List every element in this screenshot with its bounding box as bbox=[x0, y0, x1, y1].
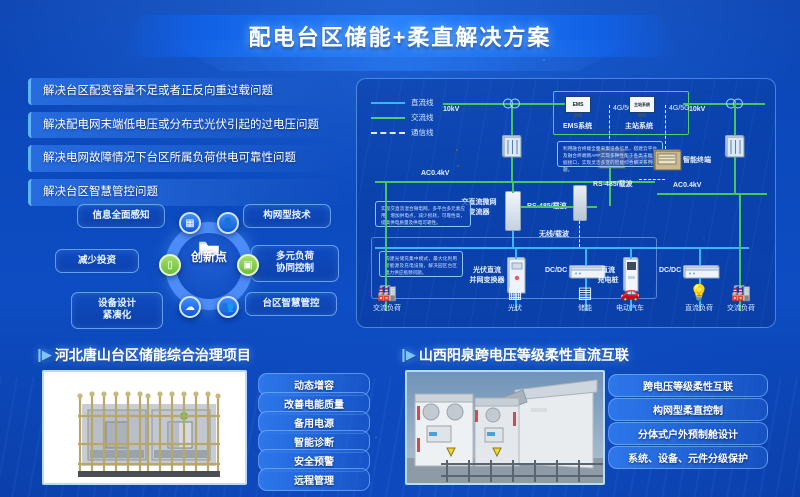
label-dcdc-right: DC/DC bbox=[659, 267, 681, 274]
label-ems: EMS系统 bbox=[563, 121, 592, 131]
electric-car-icon: 🚗 bbox=[608, 285, 652, 303]
cloud-upload-icon[interactable]: ☁ bbox=[179, 296, 201, 318]
bottom-icon-label: 储能 bbox=[578, 305, 592, 312]
ems-monitor[interactable]: EMS bbox=[565, 96, 591, 118]
label-pv-converter: 光伏直流 并网变换器 bbox=[467, 265, 507, 285]
ac-drop-right bbox=[734, 103, 736, 137]
list-item: 解决配电网末端低电压或分布式光伏引起的过电压问题 bbox=[28, 112, 338, 139]
feature-pill: 系统、设备、元件分级保护 bbox=[608, 446, 768, 469]
label-dcdc-left: DC/DC bbox=[545, 267, 567, 274]
bottom-icon-label: 交流负荷 bbox=[373, 305, 401, 312]
innovation-tag-reduce-investment: 减少投资 bbox=[55, 249, 139, 273]
fenced-cabinets-illustration bbox=[44, 372, 247, 485]
project-2-photo bbox=[405, 370, 605, 485]
bottom-icon-pv: ▦ 光伏 bbox=[493, 285, 537, 313]
photo-content bbox=[407, 372, 603, 483]
project-2-title-row: ❙▶ 山西阳泉跨电压等级柔性直流互联 bbox=[398, 345, 629, 365]
comm-link-rs485-right bbox=[639, 179, 665, 180]
solar-panel-icon: ▦ bbox=[493, 285, 537, 303]
bottom-icon-label: 直流负荷 bbox=[685, 305, 713, 312]
comm-line-swatch bbox=[371, 132, 405, 134]
page-title: 配电台区储能+柔直解决方案 bbox=[249, 20, 552, 52]
dc-link-dcdc-left bbox=[585, 247, 587, 265]
dc-link-charger bbox=[630, 247, 632, 259]
innovation-core: 创新点 ▦ 👤 ▣ 👥 ☁ ▯ bbox=[157, 214, 261, 318]
smart-terminal-right bbox=[653, 149, 681, 170]
label-dc-charger: 直流 充电桩 bbox=[595, 265, 621, 285]
dcdc-glyph bbox=[684, 266, 720, 279]
monitor-stand bbox=[638, 113, 646, 117]
label-4g5g-right: 4G/5G bbox=[669, 105, 690, 112]
feature-pill: 远程管理 bbox=[258, 468, 370, 491]
label-rs485-right: RS-485/载波 bbox=[593, 179, 633, 189]
bottom-icon-label: 电动汽车 bbox=[616, 305, 644, 312]
innovation-tag-compact-design: 设备设计 紧凑化 bbox=[71, 292, 163, 329]
bottom-icon-ac-load-right: 🏭 交流负荷 bbox=[719, 285, 763, 313]
factory-icon: 🏭 bbox=[365, 285, 409, 303]
light-bulb-icon: 💡 bbox=[677, 285, 721, 303]
transformer-glyph bbox=[503, 136, 522, 158]
transformer-glyph bbox=[726, 136, 745, 158]
master-system-monitor[interactable]: 主站系统 bbox=[629, 96, 655, 118]
factory-icon: 🏭 bbox=[719, 285, 763, 303]
list-item: 解决电网故障情况下台区所属负荷供电可靠性问题 bbox=[28, 145, 338, 172]
legend-label: 通信线 bbox=[411, 127, 434, 138]
innovation-tag-info-sensing: 信息全面感知 bbox=[77, 204, 165, 228]
project-2-title: 山西阳泉跨电压等级柔性直流互联 bbox=[419, 345, 629, 365]
dcdc-converter-load bbox=[683, 265, 719, 278]
feature-pill: 分体式户外预制舱设计 bbox=[608, 422, 768, 445]
master-screen-label: 主站系统 bbox=[629, 96, 655, 113]
bottom-icon-ac-load-left: 🏭 交流负荷 bbox=[365, 285, 409, 313]
transformer-left bbox=[502, 135, 521, 157]
legend-item-comm: 通信线 bbox=[371, 127, 434, 138]
system-architecture-diagram: 直流线 交流线 通信线 10kV AC0.4kV 交直流微网 变流器 bbox=[356, 78, 776, 328]
bottom-icon-label: 交流负荷 bbox=[727, 305, 755, 312]
ac-drop-left-2 bbox=[511, 157, 513, 181]
ems-screen-label: EMS bbox=[565, 96, 591, 113]
label-master-system: 主站系统 bbox=[625, 121, 653, 131]
label-10kv-right: 10kV bbox=[689, 106, 705, 113]
photo-content bbox=[44, 372, 245, 483]
bottom-icon-ev: 🚗 电动汽车 bbox=[608, 285, 652, 313]
label-terminal-right: 智能终端 bbox=[683, 155, 711, 165]
dc-line-swatch bbox=[371, 102, 405, 104]
dc-link-dcdc-right bbox=[699, 247, 701, 265]
callout-pv-storage: 构建光储充集中模式，最大化利用新能源及充电设施，解决园区台区电力供应瓶颈问题。 bbox=[379, 251, 463, 277]
callout-platform: 利用融合终端全面采集设备信息，搭建云平台及融合终端侧APP实现多种性能于各类末端… bbox=[557, 141, 663, 167]
innovation-cluster: 信息全面感知 减少投资 设备设计 紧凑化 构网型技术 多元负荷 协同控制 台区智… bbox=[55, 200, 355, 330]
ac-link-converter-left bbox=[512, 181, 514, 193]
play-arrow-icon: ❙▶ bbox=[34, 347, 49, 363]
chart-bubble-icon[interactable]: ▣ bbox=[237, 254, 259, 276]
legend-item-ac: 交流线 bbox=[371, 112, 434, 123]
spacer2 bbox=[456, 149, 458, 151]
innovation-tag-multi-load-control: 多元负荷 协同控制 bbox=[251, 245, 339, 282]
label-ac04kv-right: AC0.4kV bbox=[673, 182, 701, 189]
ac-dc-microgrid-converter-left bbox=[505, 191, 521, 231]
problem-statement-list: 解决台区配变容量不足或者正反向重过载问题 解决配电网末端低电压或分布式光伏引起的… bbox=[28, 78, 338, 213]
terminal-glyph bbox=[654, 150, 682, 171]
title-banner: 配电台区储能+柔直解决方案 bbox=[0, 14, 800, 58]
legend-item-dc: 直流线 bbox=[371, 97, 434, 108]
comm-line-right bbox=[665, 105, 666, 149]
dc-link-pv-converter bbox=[515, 247, 517, 259]
list-item: 解决台区配变容量不足或者正反向重过载问题 bbox=[28, 78, 338, 105]
play-arrow-icon: ❙▶ bbox=[398, 347, 413, 363]
monitor-stand bbox=[574, 113, 582, 117]
metering-device-right bbox=[573, 185, 587, 221]
ac-drop-right-2 bbox=[734, 157, 736, 193]
people-icon[interactable]: 👥 bbox=[217, 296, 239, 318]
ac-line-swatch bbox=[371, 117, 405, 119]
feature-pill: 跨电压等级柔性互联 bbox=[608, 374, 768, 397]
ac-bus-0-4kv-right bbox=[657, 193, 767, 195]
dashboard-icon[interactable]: ▦ bbox=[179, 212, 201, 234]
legend-label: 交流线 bbox=[411, 112, 434, 123]
legend-label: 直流线 bbox=[411, 97, 434, 108]
project-1-title-row: ❙▶ 河北唐山台区储能综合治理项目 bbox=[34, 345, 251, 365]
label-10kv-left: 10kV bbox=[443, 106, 459, 113]
lock-icon[interactable]: ▯ bbox=[159, 254, 181, 276]
battery-container-icon: ▤ bbox=[563, 285, 607, 303]
person-card-icon[interactable]: 👤 bbox=[217, 212, 239, 234]
diagram-legend: 直流线 交流线 通信线 bbox=[371, 97, 434, 142]
bottom-icon-storage: ▤ 储能 bbox=[563, 285, 607, 313]
bottom-icon-label: 光伏 bbox=[508, 305, 522, 312]
callout-microgrid: 实现交直流混合微电网，多平台多元素应用，增加供电点，减少损耗，可靠性高，提高供电… bbox=[375, 201, 471, 227]
spacer bbox=[457, 165, 459, 167]
bottom-icon-dc-load: 💡 直流负荷 bbox=[677, 285, 721, 313]
label-ac04kv-left: AC0.4kV bbox=[421, 170, 449, 177]
outdoor-cabinets-illustration bbox=[407, 372, 605, 485]
project-1-title: 河北唐山台区储能综合治理项目 bbox=[55, 345, 251, 365]
project-1-photo bbox=[42, 370, 247, 485]
transformer-symbol-left bbox=[500, 98, 524, 109]
feature-pill: 构网型柔直控制 bbox=[608, 398, 768, 421]
transformer-right bbox=[725, 135, 744, 157]
